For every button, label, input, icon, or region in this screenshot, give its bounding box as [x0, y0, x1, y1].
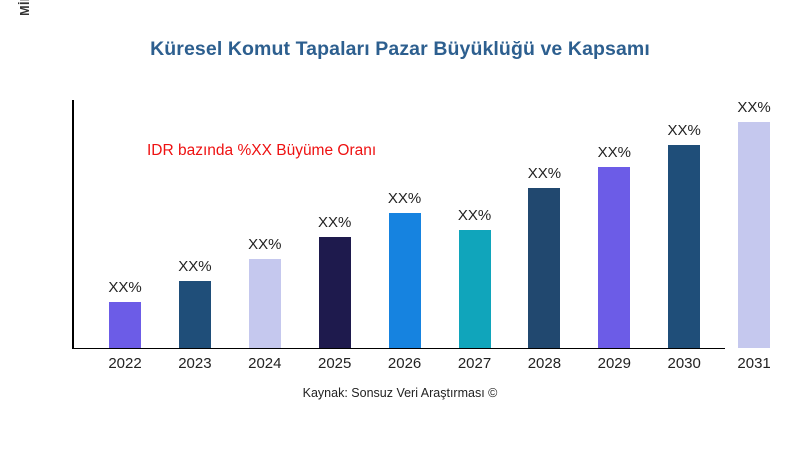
x-tick-label-2026: 2026	[375, 355, 435, 372]
plot-area: XX%XX%XX%XX%XX%XX%XX%XX%XX%XX% 202220232…	[0, 0, 800, 450]
x-tick-label-2022: 2022	[95, 355, 155, 372]
bar-value-label: XX%	[178, 258, 211, 275]
bar-2031[interactable]: XX%	[738, 122, 770, 348]
chart-screenshot: Küresel Komut Tapaları Pazar Büyüklüğü v…	[0, 0, 800, 450]
bar-value-label: XX%	[737, 99, 770, 116]
bar-2023[interactable]: XX%	[179, 281, 211, 348]
x-tick-label-2027: 2027	[445, 355, 505, 372]
bar-value-label: XX%	[528, 165, 561, 182]
bar-value-label: XX%	[668, 122, 701, 139]
x-tick-label-2030: 2030	[654, 355, 714, 372]
bar-value-label: XX%	[458, 207, 491, 224]
bar-value-label: XX%	[108, 279, 141, 296]
x-tick-label-2025: 2025	[305, 355, 365, 372]
bar-2026[interactable]: XX%	[389, 213, 421, 348]
source-note: Kaynak: Sonsuz Veri Araştırması ©	[0, 386, 800, 400]
x-tick-label-2023: 2023	[165, 355, 225, 372]
bar-2030[interactable]: XX%	[668, 145, 700, 348]
bar-value-label: XX%	[598, 144, 631, 161]
bar-2029[interactable]: XX%	[598, 167, 630, 348]
x-tick-label-2024: 2024	[235, 355, 295, 372]
y-axis-line	[72, 100, 74, 349]
x-tick-label-2031: 2031	[724, 355, 784, 372]
bar-2022[interactable]: XX%	[109, 302, 141, 348]
growth-rate-annotation: IDR bazında %XX Büyüme Oranı	[147, 142, 376, 160]
bar-2025[interactable]: XX%	[319, 237, 351, 348]
bar-2028[interactable]: XX%	[528, 188, 560, 348]
x-tick-label-2028: 2028	[514, 355, 574, 372]
x-tick-label-2029: 2029	[584, 355, 644, 372]
bar-2027[interactable]: XX%	[459, 230, 491, 348]
bar-value-label: XX%	[318, 214, 351, 231]
bar-2024[interactable]: XX%	[249, 259, 281, 348]
bar-value-label: XX%	[248, 236, 281, 253]
bar-value-label: XX%	[388, 190, 421, 207]
